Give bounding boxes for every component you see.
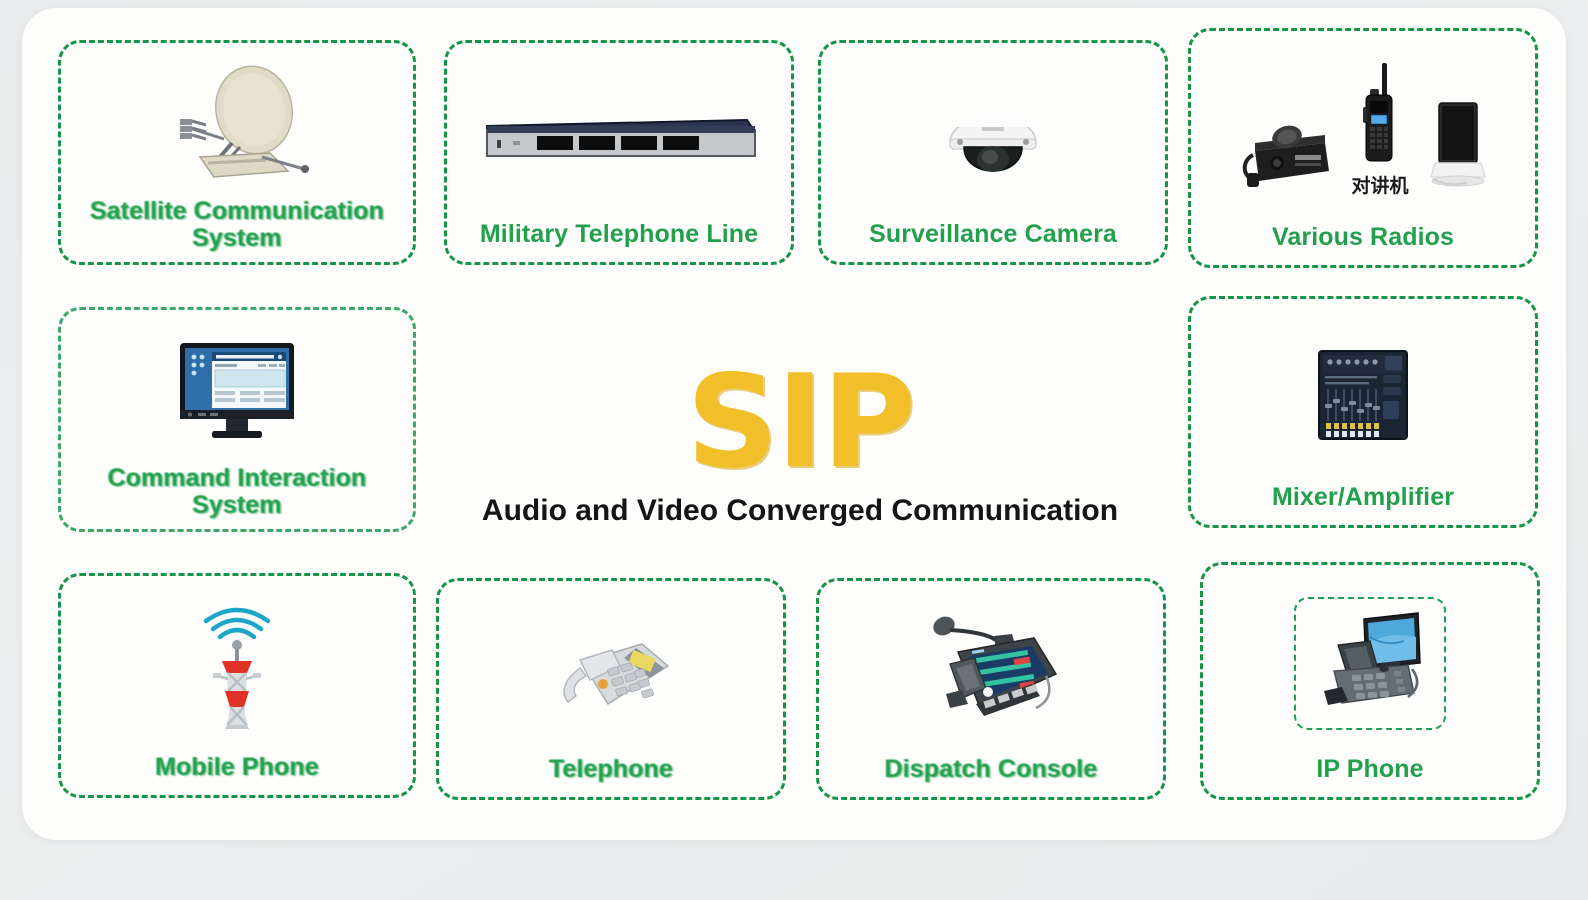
card-label: Various Radios [1191, 224, 1535, 265]
card-mobile-phone[interactable]: Mobile Phone [58, 573, 416, 798]
desk-phone-icon [439, 581, 783, 756]
card-surveillance-camera[interactable]: Surveillance Camera [818, 40, 1168, 265]
card-label: Dispatch Console [819, 756, 1163, 797]
card-label: Mobile Phone [61, 754, 413, 795]
walkie-talkie-cn-label: 对讲机 [1351, 171, 1408, 198]
diagram-canvas: Satellite Communication System Military … [0, 0, 1588, 900]
card-mixer-amplifier[interactable]: Mixer/Amplifier [1188, 296, 1538, 528]
card-label: IP Phone [1203, 756, 1537, 797]
dome-camera-icon [821, 43, 1165, 221]
card-various-radios[interactable]: 对讲机 Various Radios [1188, 28, 1538, 268]
card-label: Satellite Communication System [61, 198, 413, 262]
ip-phone-icon-wrapper [1203, 565, 1537, 756]
card-satellite-communication-system[interactable]: Satellite Communication System [58, 40, 416, 265]
sip-title: SIP [686, 364, 914, 482]
card-label: Command Interaction System [61, 465, 413, 529]
card-label: Surveillance Camera [821, 221, 1165, 262]
card-ip-phone[interactable]: IP Phone [1200, 562, 1540, 800]
base-station-radio-icon [1237, 115, 1333, 198]
card-military-telephone-line[interactable]: Military Telephone Line [444, 40, 794, 265]
card-label: Mixer/Amplifier [1191, 484, 1535, 525]
radios-group-icon: 对讲机 [1191, 31, 1535, 224]
dispatch-console-icon [819, 581, 1163, 756]
card-label: Military Telephone Line [447, 221, 791, 262]
card-telephone[interactable]: Telephone [436, 578, 786, 800]
desktop-monitor-icon [61, 310, 413, 465]
card-command-interaction-system[interactable]: Command Interaction System [58, 307, 416, 532]
ip-phone-icon [1308, 607, 1432, 720]
walkie-talkie-icon: 对讲机 [1351, 63, 1408, 198]
center-sip-block: SIP Audio and Video Converged Communicat… [432, 338, 1168, 554]
audio-mixer-icon [1191, 299, 1535, 484]
ip-phone-inner-frame [1294, 597, 1446, 730]
card-label: Telephone [439, 756, 783, 797]
sip-subtitle: Audio and Video Converged Communication [482, 494, 1118, 528]
cell-tower-icon [61, 576, 413, 754]
rack-gateway-icon [447, 43, 791, 221]
card-dispatch-console[interactable]: Dispatch Console [816, 578, 1166, 800]
tablet-radio-icon [1427, 97, 1489, 198]
satellite-dish-icon [61, 43, 413, 198]
